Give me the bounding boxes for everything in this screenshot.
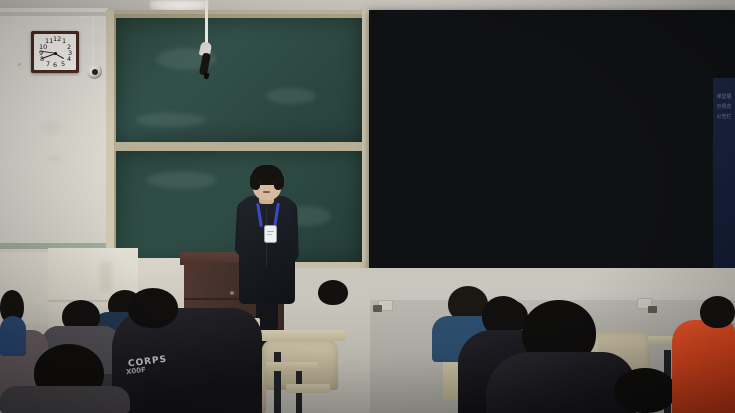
audience-head: [700, 296, 735, 328]
audience-head: [614, 368, 676, 413]
blackboard-upper-panel: [116, 18, 362, 142]
wall-speaker-core: [92, 69, 98, 75]
audience-coat: [486, 352, 636, 413]
audience-coat-orange: [672, 320, 735, 413]
id-badge-line: [267, 234, 272, 235]
clock-numeral: 12: [53, 36, 61, 43]
podium-knob: [230, 291, 234, 295]
wall-outlet-dark: [373, 305, 382, 312]
wall-outlet-dark: [648, 306, 657, 313]
wall-mark: [18, 63, 21, 66]
clock-numeral: 4: [67, 56, 71, 63]
cabinet-stain: [100, 262, 112, 292]
audience-coat: [0, 386, 130, 413]
speaker-cable: [92, 17, 94, 65]
clock-numeral: 6: [53, 62, 57, 69]
clock-face: 12 1 2 3 4 5 6 7 8 9 10 11: [34, 34, 76, 70]
clock-numeral: 7: [46, 61, 50, 68]
blackboard-middle-rail: [112, 142, 366, 151]
presenter-hair-side: [274, 173, 284, 190]
wall-mark: [40, 120, 62, 134]
wall-notice-text: 课堂展示规范公告栏: [716, 92, 732, 122]
wall-mark: [48, 155, 62, 161]
wall-clock: 12 1 2 3 4 5 6 7 8 9 10 11: [31, 31, 79, 73]
desk: [286, 384, 330, 393]
desk: [266, 362, 318, 371]
presenter-eye: [271, 182, 275, 184]
presenter-eye: [258, 182, 262, 184]
clock-numeral: 1: [62, 38, 66, 45]
clock-numeral: 11: [45, 38, 53, 45]
clock-numeral: 5: [61, 61, 65, 68]
audience-head: [128, 288, 178, 328]
microphone-cable: [205, 0, 208, 44]
projection-screen: 正在录制 王志东 4/95 EXPERIENCE 2024 “信” 青 年 “说: [369, 10, 735, 296]
classroom-scene: 12 1 2 3 4 5 6 7 8 9 10 11: [0, 0, 735, 413]
audience-head: [318, 280, 348, 305]
id-badge-line: [267, 231, 274, 232]
blackboard-left-post: [106, 10, 114, 268]
presenter-mouth: [263, 191, 270, 193]
audience-coat: [0, 316, 26, 356]
clock-center-pin: [54, 52, 57, 55]
